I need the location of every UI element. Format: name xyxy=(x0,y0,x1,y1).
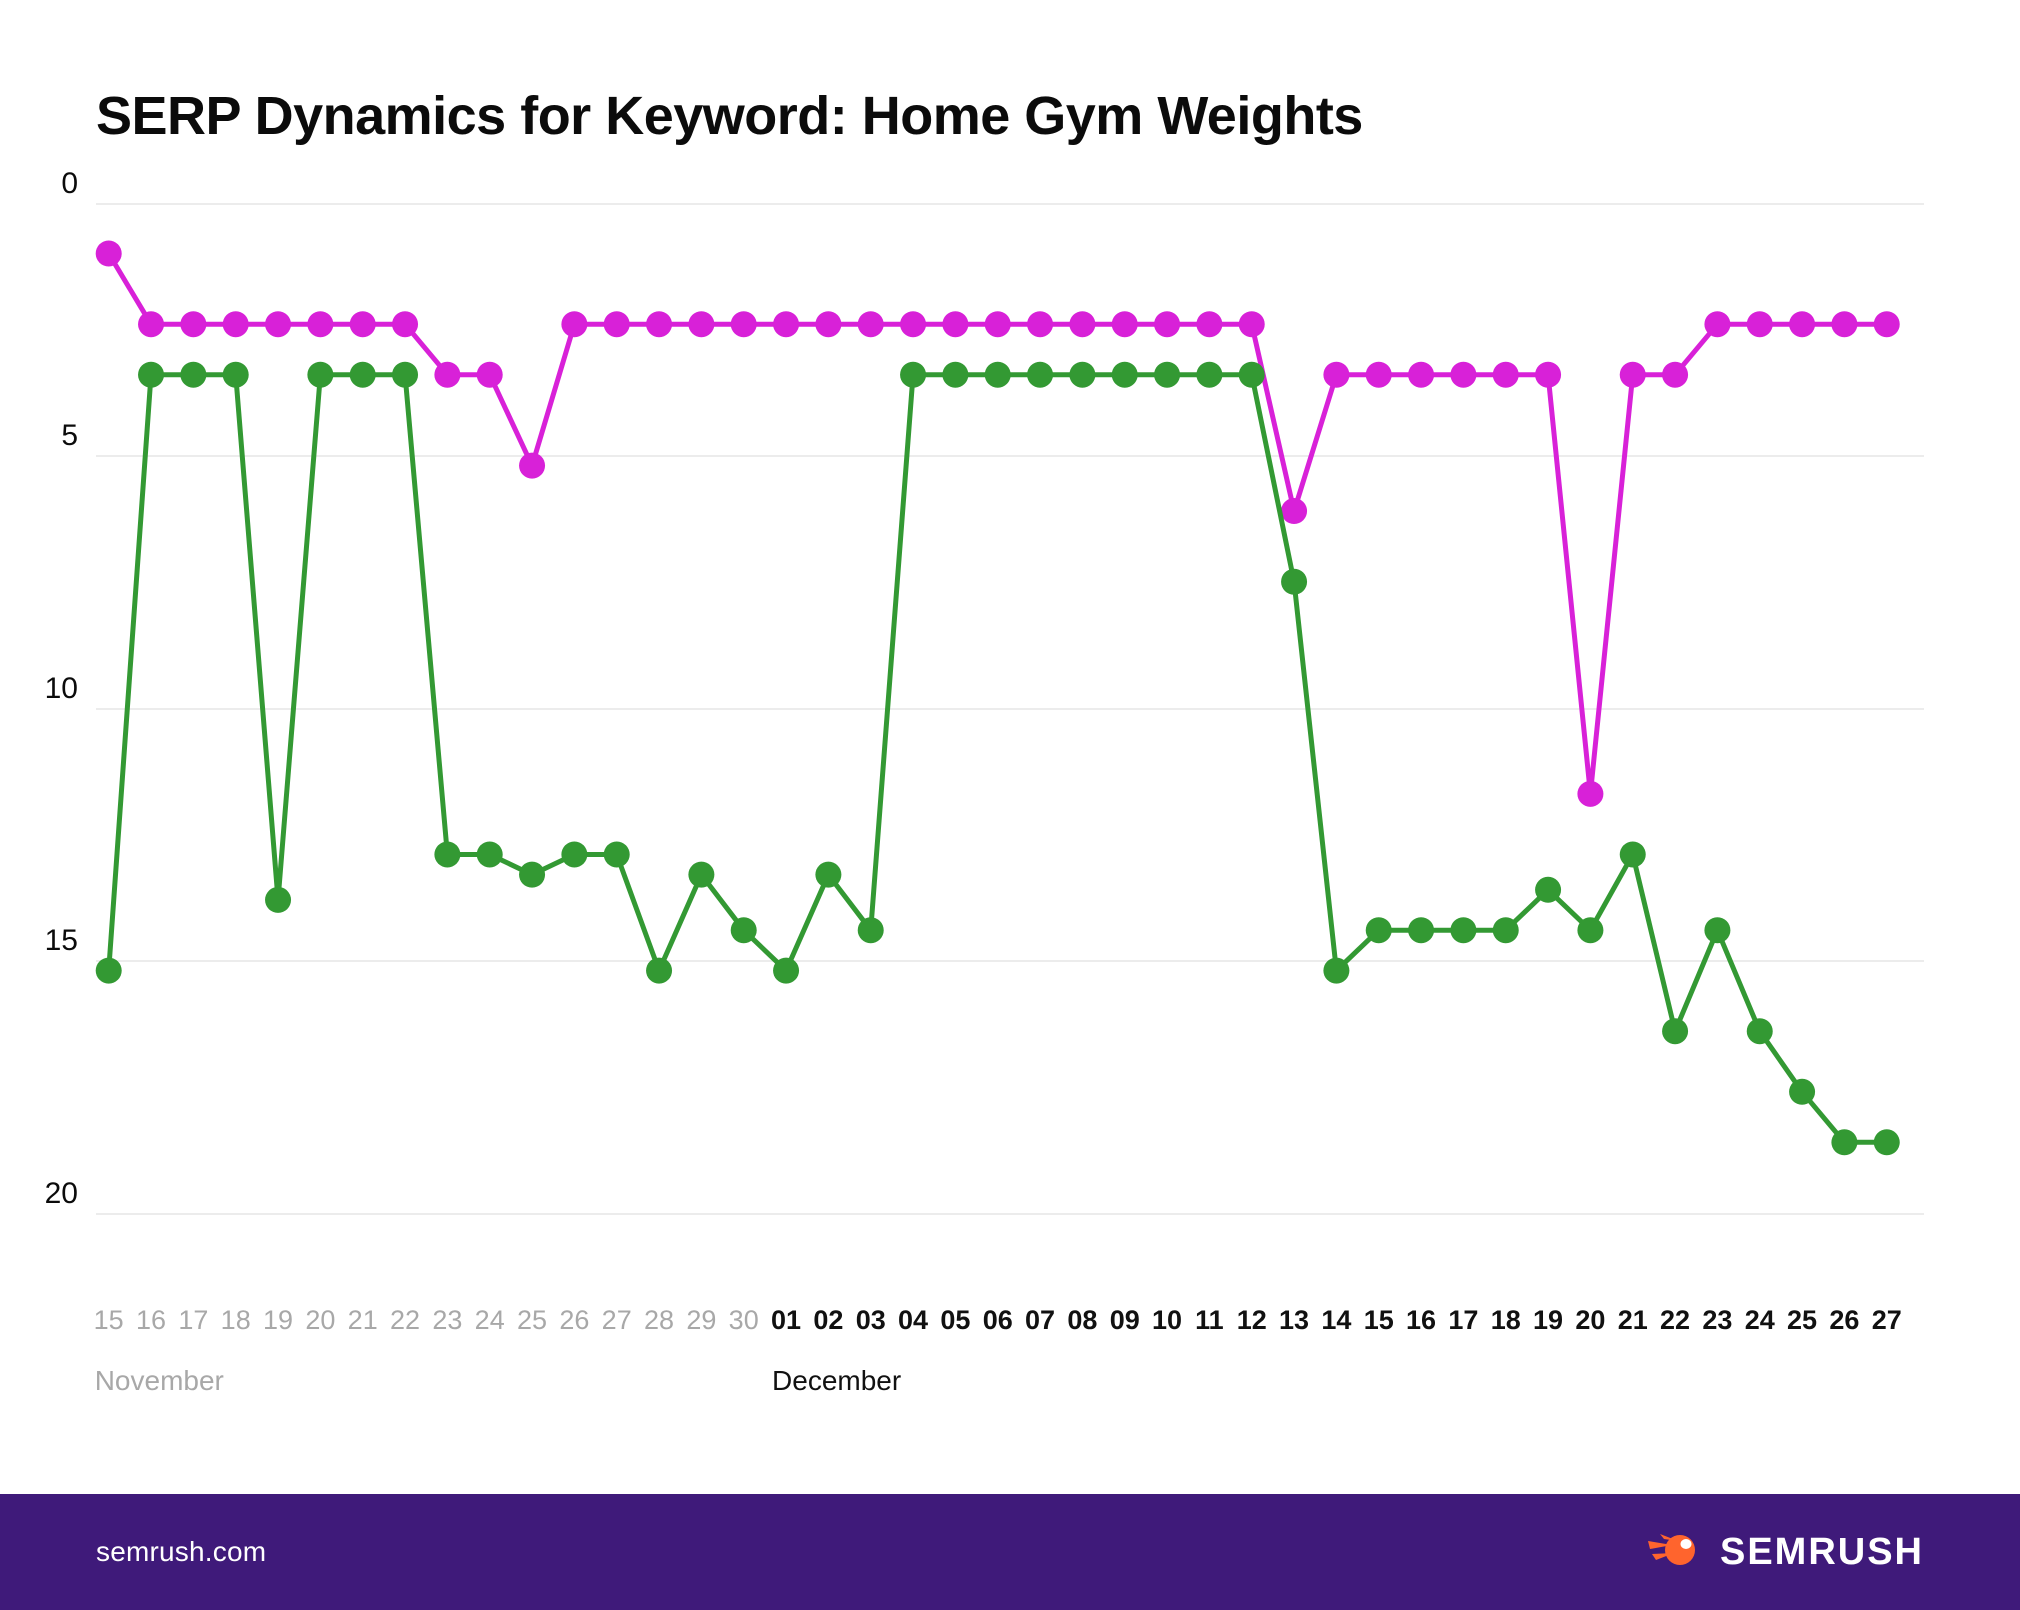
data-point[interactable] xyxy=(1535,361,1561,387)
gridline-20 xyxy=(96,1213,1924,1215)
data-point[interactable] xyxy=(731,311,757,337)
data-point[interactable] xyxy=(1112,311,1138,337)
data-point[interactable] xyxy=(138,361,164,387)
data-point[interactable] xyxy=(1323,361,1349,387)
data-point[interactable] xyxy=(688,861,714,887)
x-tick-label: 05 xyxy=(940,1305,970,1336)
data-point[interactable] xyxy=(1620,841,1646,867)
data-point[interactable] xyxy=(307,311,333,337)
month-label-december: December xyxy=(772,1365,901,1397)
data-point[interactable] xyxy=(477,841,503,867)
data-point[interactable] xyxy=(1450,917,1476,943)
x-tick-label: 07 xyxy=(1025,1305,1055,1336)
data-point[interactable] xyxy=(815,311,841,337)
x-tick-label: 01 xyxy=(771,1305,801,1336)
data-point[interactable] xyxy=(1366,361,1392,387)
data-point[interactable] xyxy=(604,311,630,337)
data-point[interactable] xyxy=(1281,498,1307,524)
data-point[interactable] xyxy=(985,361,1011,387)
y-tick-label-0: 0 xyxy=(61,169,78,199)
data-point[interactable] xyxy=(985,311,1011,337)
data-point[interactable] xyxy=(1366,917,1392,943)
data-point[interactable] xyxy=(307,361,333,387)
data-point[interactable] xyxy=(1027,311,1053,337)
data-point[interactable] xyxy=(1112,361,1138,387)
data-point[interactable] xyxy=(1874,1129,1900,1155)
x-tick-label: 11 xyxy=(1195,1305,1224,1336)
data-point[interactable] xyxy=(1239,361,1265,387)
data-point[interactable] xyxy=(1662,1018,1688,1044)
x-tick-label: 27 xyxy=(1872,1305,1902,1336)
data-point[interactable] xyxy=(1493,917,1519,943)
x-tick-label: 16 xyxy=(136,1305,166,1336)
data-point[interactable] xyxy=(1620,361,1646,387)
data-point[interactable] xyxy=(1789,1078,1815,1104)
x-tick-label: 26 xyxy=(1829,1305,1859,1336)
x-tick-label: 27 xyxy=(602,1305,632,1336)
x-tick-label: 23 xyxy=(432,1305,462,1336)
data-point[interactable] xyxy=(350,311,376,337)
data-point[interactable] xyxy=(96,957,122,983)
y-tick-label-5: 5 xyxy=(61,421,78,451)
data-point[interactable] xyxy=(1535,876,1561,902)
data-point[interactable] xyxy=(1154,361,1180,387)
data-point[interactable] xyxy=(1704,917,1730,943)
data-point[interactable] xyxy=(1196,311,1222,337)
data-point[interactable] xyxy=(1323,957,1349,983)
x-tick-label: 09 xyxy=(1110,1305,1140,1336)
data-point[interactable] xyxy=(1154,311,1180,337)
series-green-series xyxy=(96,361,1900,1155)
data-point[interactable] xyxy=(1577,917,1603,943)
data-point[interactable] xyxy=(773,957,799,983)
x-tick-label: 12 xyxy=(1237,1305,1267,1336)
data-point[interactable] xyxy=(1493,361,1519,387)
data-point[interactable] xyxy=(1831,1129,1857,1155)
x-tick-label: 25 xyxy=(1787,1305,1817,1336)
semrush-comet-icon xyxy=(1646,1527,1702,1578)
data-point[interactable] xyxy=(1281,568,1307,594)
x-tick-label: 17 xyxy=(1448,1305,1478,1336)
data-point[interactable] xyxy=(1789,311,1815,337)
x-tick-label: 18 xyxy=(221,1305,251,1336)
month-label-november: November xyxy=(95,1365,224,1397)
x-tick-label: 13 xyxy=(1279,1305,1309,1336)
footer-url[interactable]: semrush.com xyxy=(96,1536,266,1568)
plot-region: 05101520 xyxy=(96,203,1924,1213)
footer-bar: semrush.com SEMRUSH xyxy=(0,1494,2020,1610)
data-point[interactable] xyxy=(646,311,672,337)
data-point[interactable] xyxy=(1408,361,1434,387)
y-tick-label-20: 20 xyxy=(45,1179,78,1209)
x-tick-label: 19 xyxy=(1533,1305,1563,1336)
data-point[interactable] xyxy=(688,311,714,337)
data-point[interactable] xyxy=(858,917,884,943)
data-point[interactable] xyxy=(1196,361,1222,387)
data-point[interactable] xyxy=(265,887,291,913)
x-tick-label: 23 xyxy=(1702,1305,1732,1336)
data-point[interactable] xyxy=(561,311,587,337)
data-point[interactable] xyxy=(434,841,460,867)
data-point[interactable] xyxy=(392,311,418,337)
x-tick-label: 30 xyxy=(729,1305,759,1336)
data-point[interactable] xyxy=(392,361,418,387)
data-point[interactable] xyxy=(773,311,799,337)
data-point[interactable] xyxy=(223,361,249,387)
data-point[interactable] xyxy=(265,311,291,337)
data-point[interactable] xyxy=(519,861,545,887)
data-point[interactable] xyxy=(731,917,757,943)
data-point[interactable] xyxy=(815,861,841,887)
x-tick-label: 29 xyxy=(686,1305,716,1336)
x-tick-label: 19 xyxy=(263,1305,293,1336)
data-point[interactable] xyxy=(561,841,587,867)
data-point[interactable] xyxy=(900,361,926,387)
x-tick-label: 22 xyxy=(390,1305,420,1336)
series-magenta-series xyxy=(96,240,1900,806)
data-point[interactable] xyxy=(604,841,630,867)
data-point[interactable] xyxy=(646,957,672,983)
x-tick-label: 03 xyxy=(856,1305,886,1336)
data-point[interactable] xyxy=(180,311,206,337)
data-point[interactable] xyxy=(1577,781,1603,807)
data-point[interactable] xyxy=(1408,917,1434,943)
x-tick-label: 20 xyxy=(305,1305,335,1336)
data-point[interactable] xyxy=(180,361,206,387)
x-tick-label: 24 xyxy=(475,1305,505,1336)
x-tick-label: 28 xyxy=(644,1305,674,1336)
data-point[interactable] xyxy=(1450,361,1476,387)
data-point[interactable] xyxy=(1874,311,1900,337)
x-tick-label: 16 xyxy=(1406,1305,1436,1336)
title-section: SERP Dynamics for Keyword: Home Gym Weig… xyxy=(0,0,2020,145)
page-title: SERP Dynamics for Keyword: Home Gym Weig… xyxy=(96,88,2020,145)
x-tick-label: 14 xyxy=(1321,1305,1351,1336)
x-tick-label: 17 xyxy=(178,1305,208,1336)
chart-page: SERP Dynamics for Keyword: Home Gym Weig… xyxy=(0,0,2020,1610)
data-point[interactable] xyxy=(942,361,968,387)
x-axis: 1516171819202122232425262728293001020304… xyxy=(96,1305,2020,1425)
x-tick-label: 02 xyxy=(813,1305,843,1336)
y-tick-label-10: 10 xyxy=(45,674,78,704)
brand-name: SEMRUSH xyxy=(1720,1531,1924,1574)
data-point[interactable] xyxy=(138,311,164,337)
x-tick-label: 24 xyxy=(1745,1305,1775,1336)
data-point[interactable] xyxy=(1069,361,1095,387)
x-tick-label: 18 xyxy=(1491,1305,1521,1336)
data-point[interactable] xyxy=(1747,311,1773,337)
x-tick-label: 21 xyxy=(1618,1305,1648,1336)
data-point[interactable] xyxy=(223,311,249,337)
data-point[interactable] xyxy=(1069,311,1095,337)
data-point[interactable] xyxy=(477,361,503,387)
data-point[interactable] xyxy=(350,361,376,387)
x-tick-label: 15 xyxy=(94,1305,124,1336)
data-point[interactable] xyxy=(1027,361,1053,387)
x-tick-label: 06 xyxy=(983,1305,1013,1336)
data-point[interactable] xyxy=(1831,311,1857,337)
data-point[interactable] xyxy=(900,311,926,337)
data-point[interactable] xyxy=(519,452,545,478)
x-tick-label: 25 xyxy=(517,1305,547,1336)
semrush-brand: SEMRUSH xyxy=(1646,1527,1924,1578)
chart-area: 05101520 1516171819202122232425262728293… xyxy=(0,145,2020,1610)
data-point[interactable] xyxy=(942,311,968,337)
data-point[interactable] xyxy=(96,240,122,266)
y-tick-label-15: 15 xyxy=(45,926,78,956)
data-point[interactable] xyxy=(1239,311,1265,337)
x-tick-label: 26 xyxy=(559,1305,589,1336)
data-point[interactable] xyxy=(858,311,884,337)
series-plot xyxy=(96,203,1924,1213)
data-point[interactable] xyxy=(1704,311,1730,337)
data-point[interactable] xyxy=(1747,1018,1773,1044)
x-tick-label: 08 xyxy=(1067,1305,1097,1336)
x-tick-label: 15 xyxy=(1364,1305,1394,1336)
data-point[interactable] xyxy=(1662,361,1688,387)
x-tick-label: 20 xyxy=(1575,1305,1605,1336)
data-point[interactable] xyxy=(434,361,460,387)
x-tick-label: 10 xyxy=(1152,1305,1182,1336)
x-tick-label: 22 xyxy=(1660,1305,1690,1336)
x-tick-label: 04 xyxy=(898,1305,928,1336)
x-tick-label: 21 xyxy=(348,1305,378,1336)
